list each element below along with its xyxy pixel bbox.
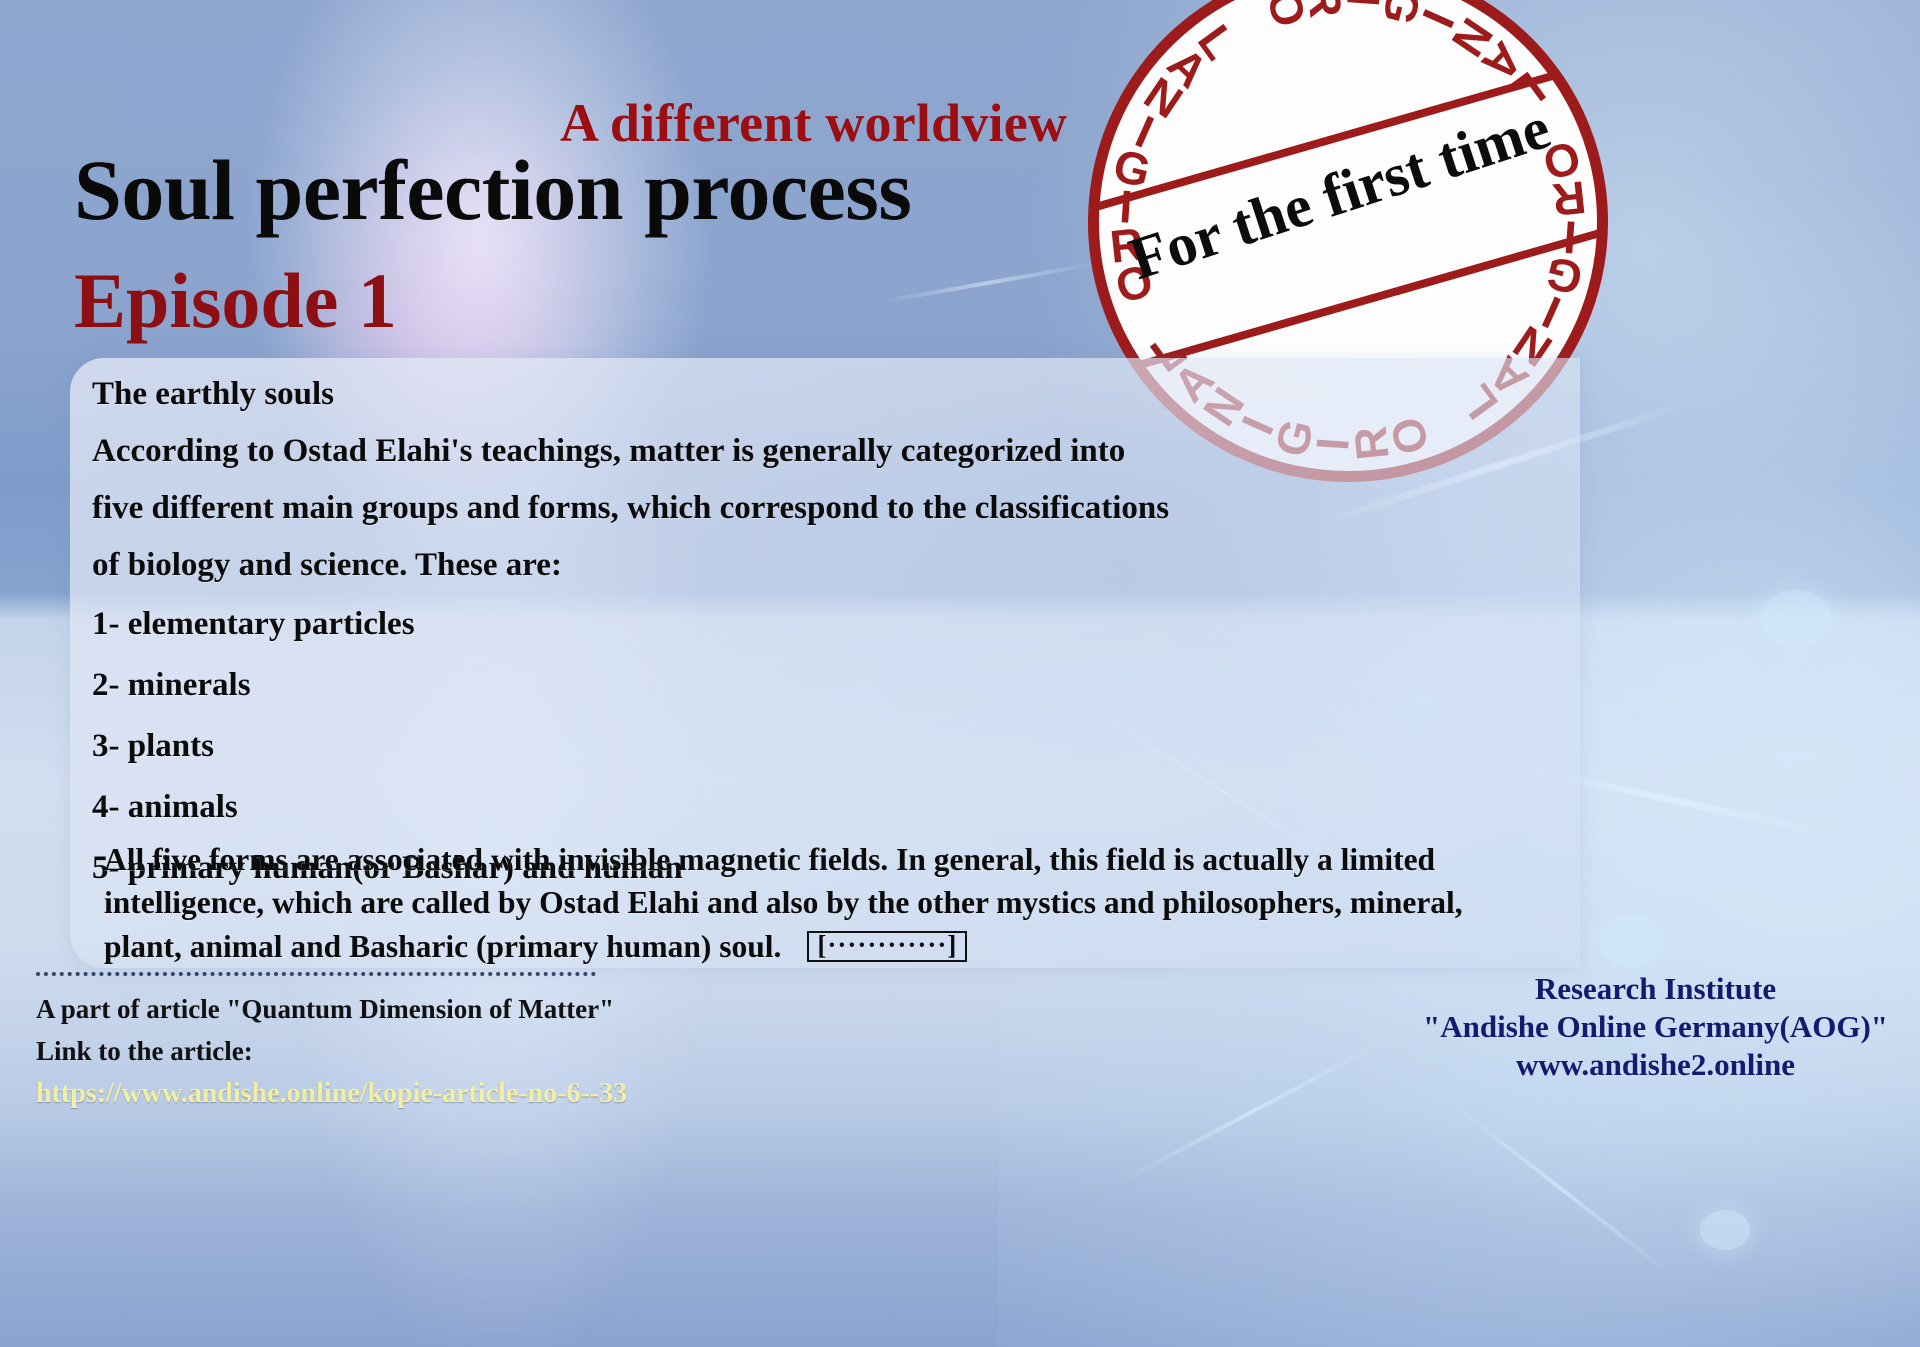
- institute-website[interactable]: www.andishe2.online: [1423, 1046, 1888, 1084]
- poster-canvas: A different worldview Soul perfection pr…: [0, 0, 1920, 1347]
- neuron-cell-body: [1760, 590, 1832, 648]
- list-item: 2- minerals: [92, 667, 1532, 704]
- footer-right: Research Institute "Andishe Online Germa…: [1423, 970, 1888, 1083]
- institute-name: Research Institute: [1423, 970, 1888, 1008]
- footer-divider: [36, 972, 596, 976]
- list-item: 1- elementary particles: [92, 606, 1532, 643]
- institute-fullname: "Andishe Online Germany(AOG)": [1423, 1008, 1888, 1046]
- neuron-cell-body: [1700, 1210, 1750, 1250]
- list-item: 3- plants: [92, 728, 1532, 765]
- page-title: Soul perfection process: [74, 140, 911, 240]
- closing-paragraph: All five forms are associated with invis…: [104, 838, 1534, 968]
- episode-label: Episode 1: [74, 256, 397, 346]
- intro-line-2: five different main groups and forms, wh…: [92, 492, 1532, 525]
- list-item: 4- animals: [92, 789, 1532, 826]
- article-link[interactable]: https://www.andishe.online/kopie-article…: [36, 1078, 796, 1110]
- closing-paragraph-text: All five forms are associated with invis…: [104, 842, 1463, 964]
- intro-line-3: of biology and science. These are:: [92, 549, 1532, 582]
- neuron-cell-body: [1600, 915, 1664, 967]
- article-note: A part of article "Quantum Dimension of …: [36, 994, 796, 1025]
- content-panel-body: The earthly souls According to Ostad Ela…: [92, 378, 1532, 911]
- closing-ellipsis-marker: [············]: [807, 931, 967, 962]
- panel-subtitle: The earthly souls: [92, 378, 1532, 411]
- footer-left: A part of article "Quantum Dimension of …: [36, 994, 796, 1110]
- intro-line-1: According to Ostad Elahi's teachings, ma…: [92, 435, 1532, 468]
- link-label: Link to the article:: [36, 1036, 796, 1067]
